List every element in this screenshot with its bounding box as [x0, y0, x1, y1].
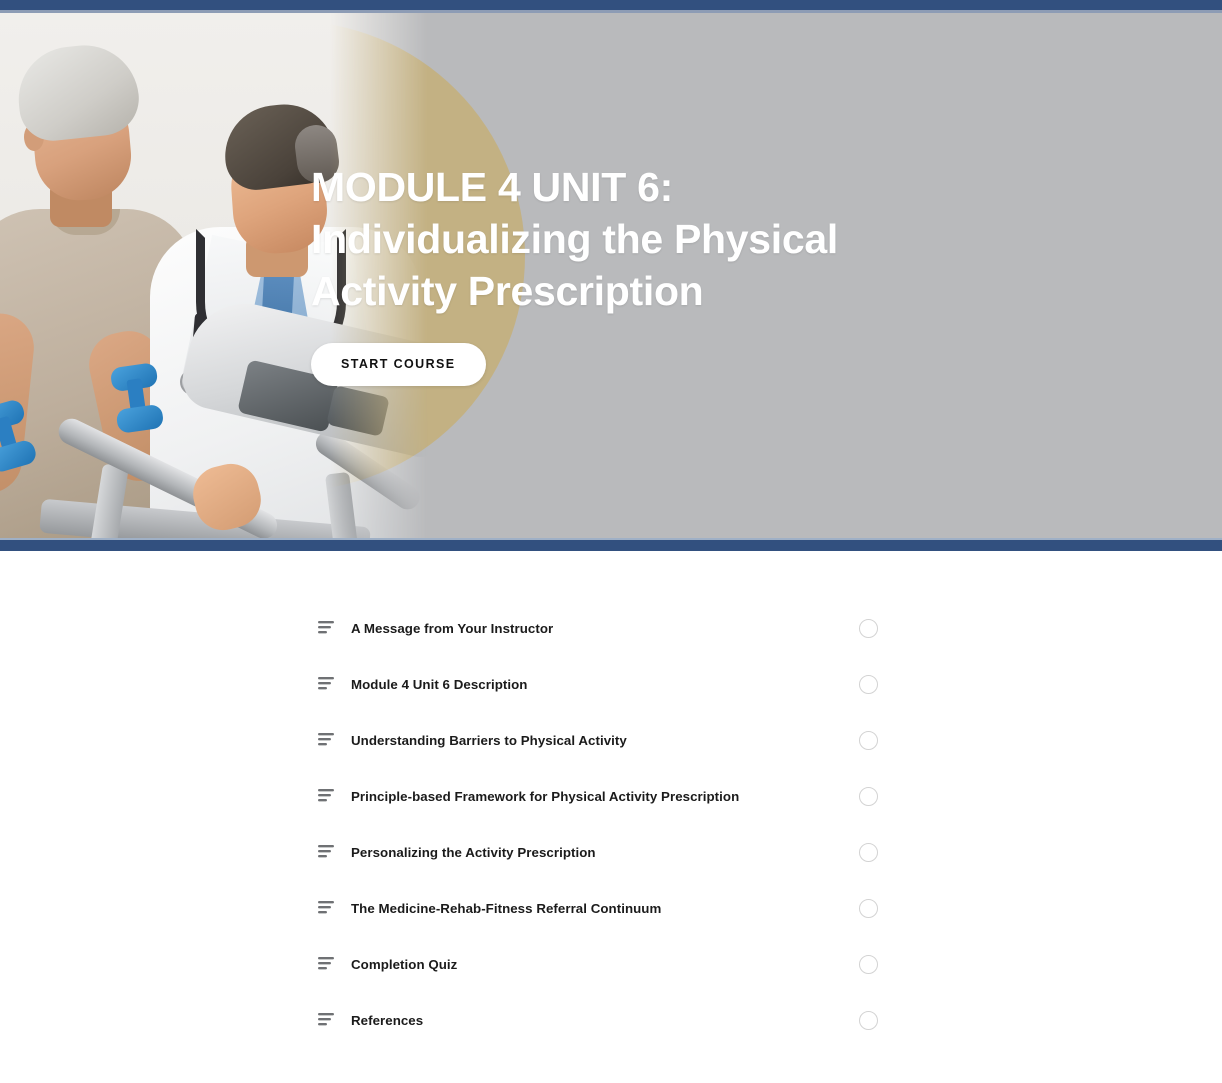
lesson-row[interactable]: A Message from Your Instructor: [311, 600, 887, 656]
text-lines-icon: [318, 845, 336, 859]
text-lines-icon: [318, 1013, 336, 1027]
lesson-row[interactable]: The Medicine-Rehab-Fitness Referral Cont…: [311, 880, 887, 936]
text-lines-icon: [318, 677, 336, 691]
text-lines-icon: [318, 901, 336, 915]
page-title: MODULE 4 UNIT 6: Individualizing the Phy…: [311, 161, 951, 317]
lesson-row[interactable]: Module 4 Unit 6 Description: [311, 656, 887, 712]
lesson-row[interactable]: Principle-based Framework for Physical A…: [311, 768, 887, 824]
lesson-row[interactable]: References: [311, 992, 887, 1048]
lesson-title: Completion Quiz: [351, 957, 859, 972]
lesson-row[interactable]: Personalizing the Activity Prescription: [311, 824, 887, 880]
lesson-status-circle-outline-icon[interactable]: [859, 1011, 878, 1030]
lesson-title: A Message from Your Instructor: [351, 621, 859, 636]
text-lines-icon: [318, 789, 336, 803]
text-lines-icon: [318, 957, 336, 971]
hero-bottom-navy-bar: [0, 540, 1222, 551]
lesson-status-circle-outline-icon[interactable]: [859, 675, 878, 694]
page-title-line-3: Activity Prescription: [311, 268, 703, 314]
lesson-row[interactable]: Understanding Barriers to Physical Activ…: [311, 712, 887, 768]
text-lines-icon: [318, 733, 336, 747]
lesson-status-circle-outline-icon[interactable]: [859, 787, 878, 806]
hero-banner: MODULE 4 UNIT 6: Individualizing the Phy…: [0, 13, 1222, 540]
course-landing-page: MODULE 4 UNIT 6: Individualizing the Phy…: [0, 0, 1222, 1083]
lesson-title: Understanding Barriers to Physical Activ…: [351, 733, 859, 748]
top-navy-bar: [0, 0, 1222, 10]
page-title-line-2: Individualizing the Physical: [311, 216, 838, 262]
start-course-button[interactable]: START COURSE: [311, 343, 486, 386]
page-title-line-1: MODULE 4 UNIT 6:: [311, 164, 673, 210]
lesson-status-circle-outline-icon[interactable]: [859, 843, 878, 862]
lesson-status-circle-outline-icon[interactable]: [859, 899, 878, 918]
lesson-title: Module 4 Unit 6 Description: [351, 677, 859, 692]
lesson-row[interactable]: Completion Quiz: [311, 936, 887, 992]
lesson-list: A Message from Your InstructorModule 4 U…: [0, 551, 1222, 1048]
lesson-title: Principle-based Framework for Physical A…: [351, 789, 859, 804]
text-lines-icon: [318, 621, 336, 635]
dumbbell-icon-right: [110, 362, 165, 434]
lesson-title: References: [351, 1013, 859, 1028]
lesson-status-circle-outline-icon[interactable]: [859, 619, 878, 638]
lesson-status-circle-outline-icon[interactable]: [859, 955, 878, 974]
lesson-status-circle-outline-icon[interactable]: [859, 731, 878, 750]
hero-content: MODULE 4 UNIT 6: Individualizing the Phy…: [311, 161, 951, 386]
lesson-title: Personalizing the Activity Prescription: [351, 845, 859, 860]
lesson-title: The Medicine-Rehab-Fitness Referral Cont…: [351, 901, 859, 916]
